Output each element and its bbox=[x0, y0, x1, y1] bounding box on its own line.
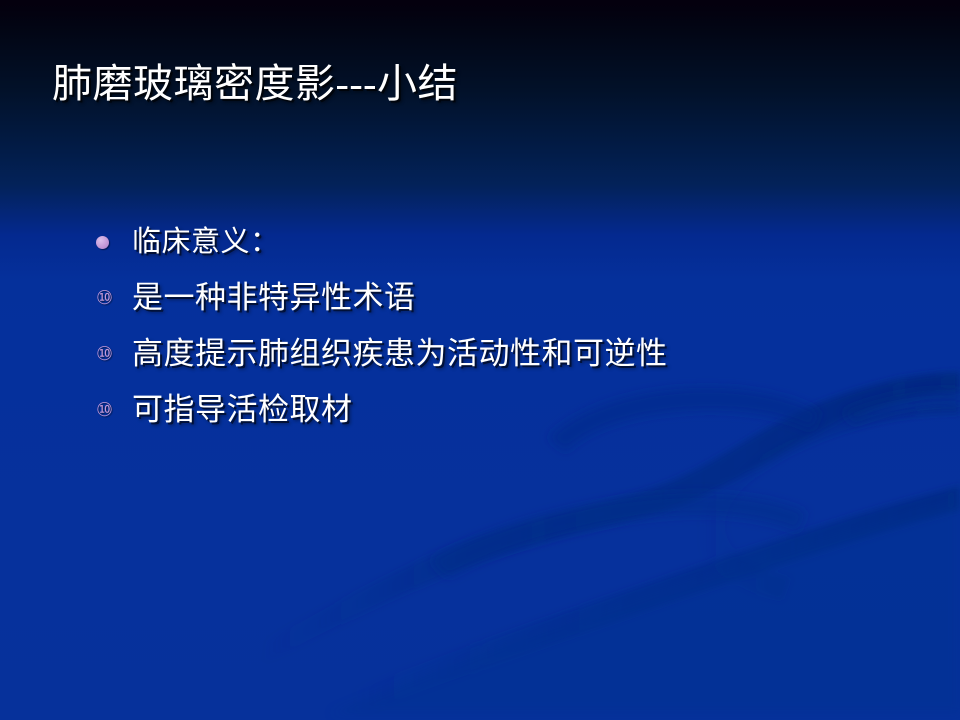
presentation-slide: 肺磨玻璃密度影---小结 临床意义： ⑩ 是一种非特异性术语 ⑩ 高度提示肺组织… bbox=[0, 0, 960, 720]
list-item: 临床意义： bbox=[96, 214, 908, 270]
list-item-label: 可指导活检取材 bbox=[132, 391, 353, 428]
circled-ten-glyph: ⑩ bbox=[96, 289, 113, 308]
slide-title-block: 肺磨玻璃密度影---小结 bbox=[0, 60, 960, 107]
list-item-label: 是一种非特异性术语 bbox=[132, 279, 416, 316]
list-item-label: 高度提示肺组织疾患为活动性和可逆性 bbox=[132, 335, 668, 372]
slide-body-bullet-list: 临床意义： ⑩ 是一种非特异性术语 ⑩ 高度提示肺组织疾患为活动性和可逆性 ⑩ … bbox=[0, 214, 960, 438]
list-item: ⑩ 高度提示肺组织疾患为活动性和可逆性 bbox=[96, 326, 908, 382]
circled-ten-bullet-icon: ⑩ bbox=[96, 289, 132, 308]
circled-ten-glyph: ⑩ bbox=[96, 401, 113, 420]
page-title: 肺磨玻璃密度影---小结 bbox=[52, 60, 908, 107]
list-item: ⑩ 是一种非特异性术语 bbox=[96, 270, 908, 326]
list-item-label: 临床意义： bbox=[132, 225, 280, 260]
list-item: ⑩ 可指导活检取材 bbox=[96, 382, 908, 438]
circled-ten-bullet-icon: ⑩ bbox=[96, 401, 132, 420]
disc-bullet-icon bbox=[96, 236, 132, 249]
circled-ten-glyph: ⑩ bbox=[96, 345, 113, 364]
circled-ten-bullet-icon: ⑩ bbox=[96, 345, 132, 364]
